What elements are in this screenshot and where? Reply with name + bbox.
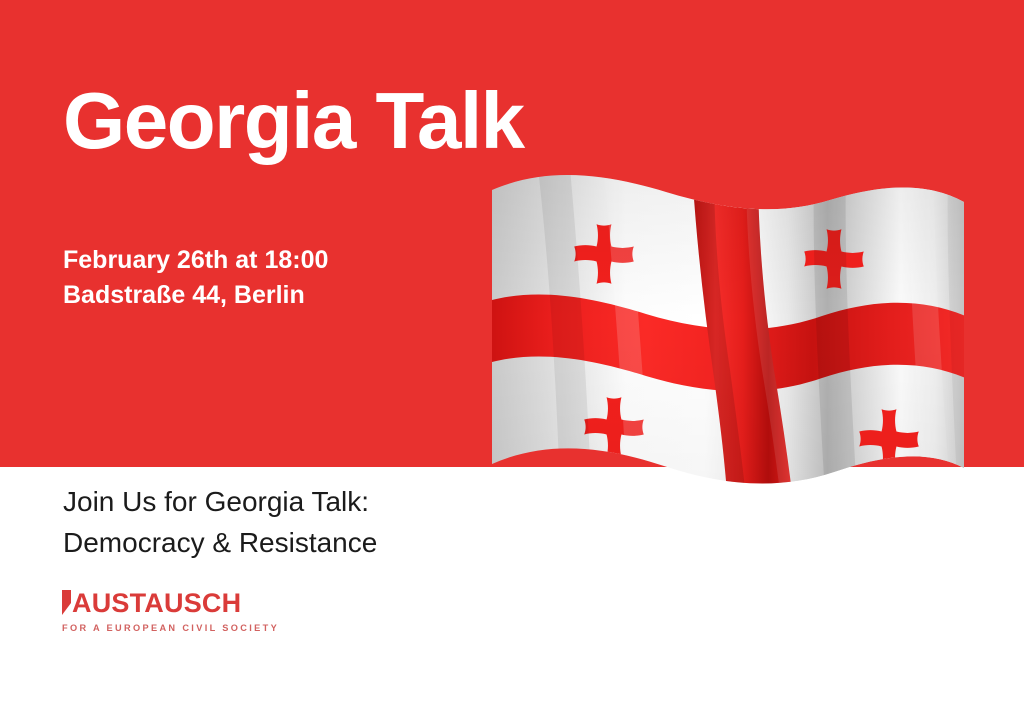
georgia-flag [478, 168, 970, 546]
page-title: Georgia Talk [63, 78, 524, 164]
caption-block: Join Us for Georgia Talk: Democracy & Re… [63, 481, 377, 563]
caption-line-2: Democracy & Resistance [63, 522, 377, 563]
caption-line-1: Join Us for Georgia Talk: [63, 481, 377, 522]
event-datetime: February 26th at 18:00 [63, 243, 328, 278]
poster-canvas: Georgia Talk February 26th at 18:00 Bads… [0, 0, 1024, 724]
logo-wordmark-row: AUSTAUSCH [62, 590, 279, 617]
tick-mark-icon [62, 590, 71, 615]
event-details: February 26th at 18:00 Badstraße 44, Ber… [63, 243, 328, 313]
logo-tagline: FOR A EUROPEAN CIVIL SOCIETY [62, 623, 279, 634]
austausch-logo: AUSTAUSCH FOR A EUROPEAN CIVIL SOCIETY [62, 590, 279, 634]
logo-wordmark: AUSTAUSCH [72, 590, 241, 617]
headline-block: Georgia Talk [63, 78, 524, 164]
event-address: Badstraße 44, Berlin [63, 278, 328, 313]
